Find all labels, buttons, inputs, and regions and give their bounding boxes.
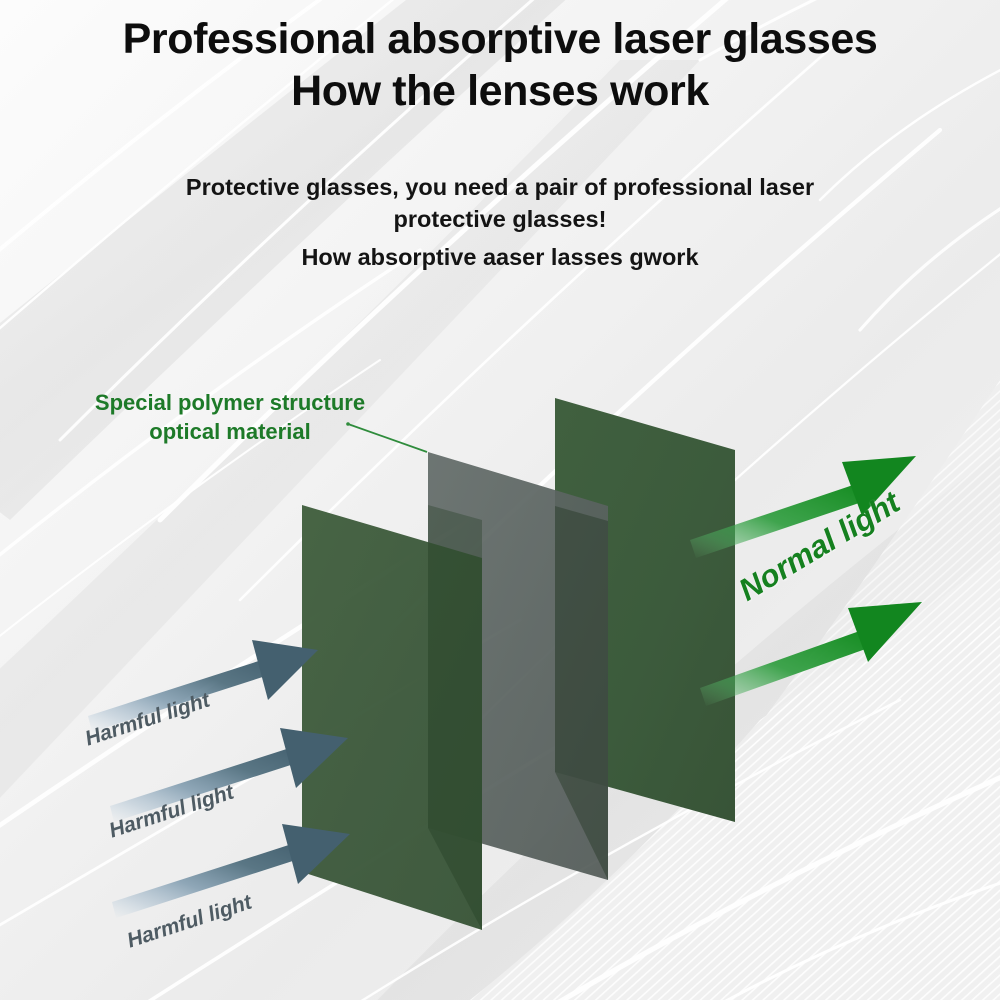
background-texture xyxy=(0,0,1000,1000)
lens-diagram xyxy=(0,0,1000,1000)
subtitle-line-1: Protective glasses, you need a pair of p… xyxy=(186,174,814,200)
harmful-light-label-1: Harmful light xyxy=(82,689,213,752)
title-line-2: How the lenses work xyxy=(0,66,1000,118)
subtitle-block: Protective glasses, you need a pair of p… xyxy=(0,172,1000,274)
title-block: Professional absorptive laser glasses Ho… xyxy=(0,14,1000,117)
harmful-light-label-2: Harmful light xyxy=(106,781,237,844)
middle-grey-panel xyxy=(428,452,608,880)
annotation-label: Special polymer structure optical materi… xyxy=(70,388,390,446)
page-title: Professional absorptive laser glasses Ho… xyxy=(0,14,1000,117)
title-line-1: Professional absorptive laser glasses xyxy=(123,15,878,63)
infographic-canvas: Professional absorptive laser glasses Ho… xyxy=(0,0,1000,1000)
annotation-line-2: optical material xyxy=(70,417,390,446)
back-green-panel xyxy=(555,398,735,822)
subtitle-line-3: How absorptive aaser lasses gwork xyxy=(0,242,1000,274)
subtitle: Protective glasses, you need a pair of p… xyxy=(0,172,1000,274)
normal-light-arrow-2 xyxy=(700,602,922,706)
harmful-light-label-3: Harmful light xyxy=(124,891,255,954)
subtitle-line-2: protective glasses! xyxy=(394,206,607,232)
normal-light-label: Normal light xyxy=(733,484,907,608)
annotation-line-1: Special polymer structure xyxy=(95,390,365,415)
harmful-light-arrows xyxy=(88,640,350,918)
panel-overlap-shade-2 xyxy=(555,506,608,880)
front-green-panel xyxy=(302,505,482,930)
panel-overlap-shade-1 xyxy=(428,505,482,930)
